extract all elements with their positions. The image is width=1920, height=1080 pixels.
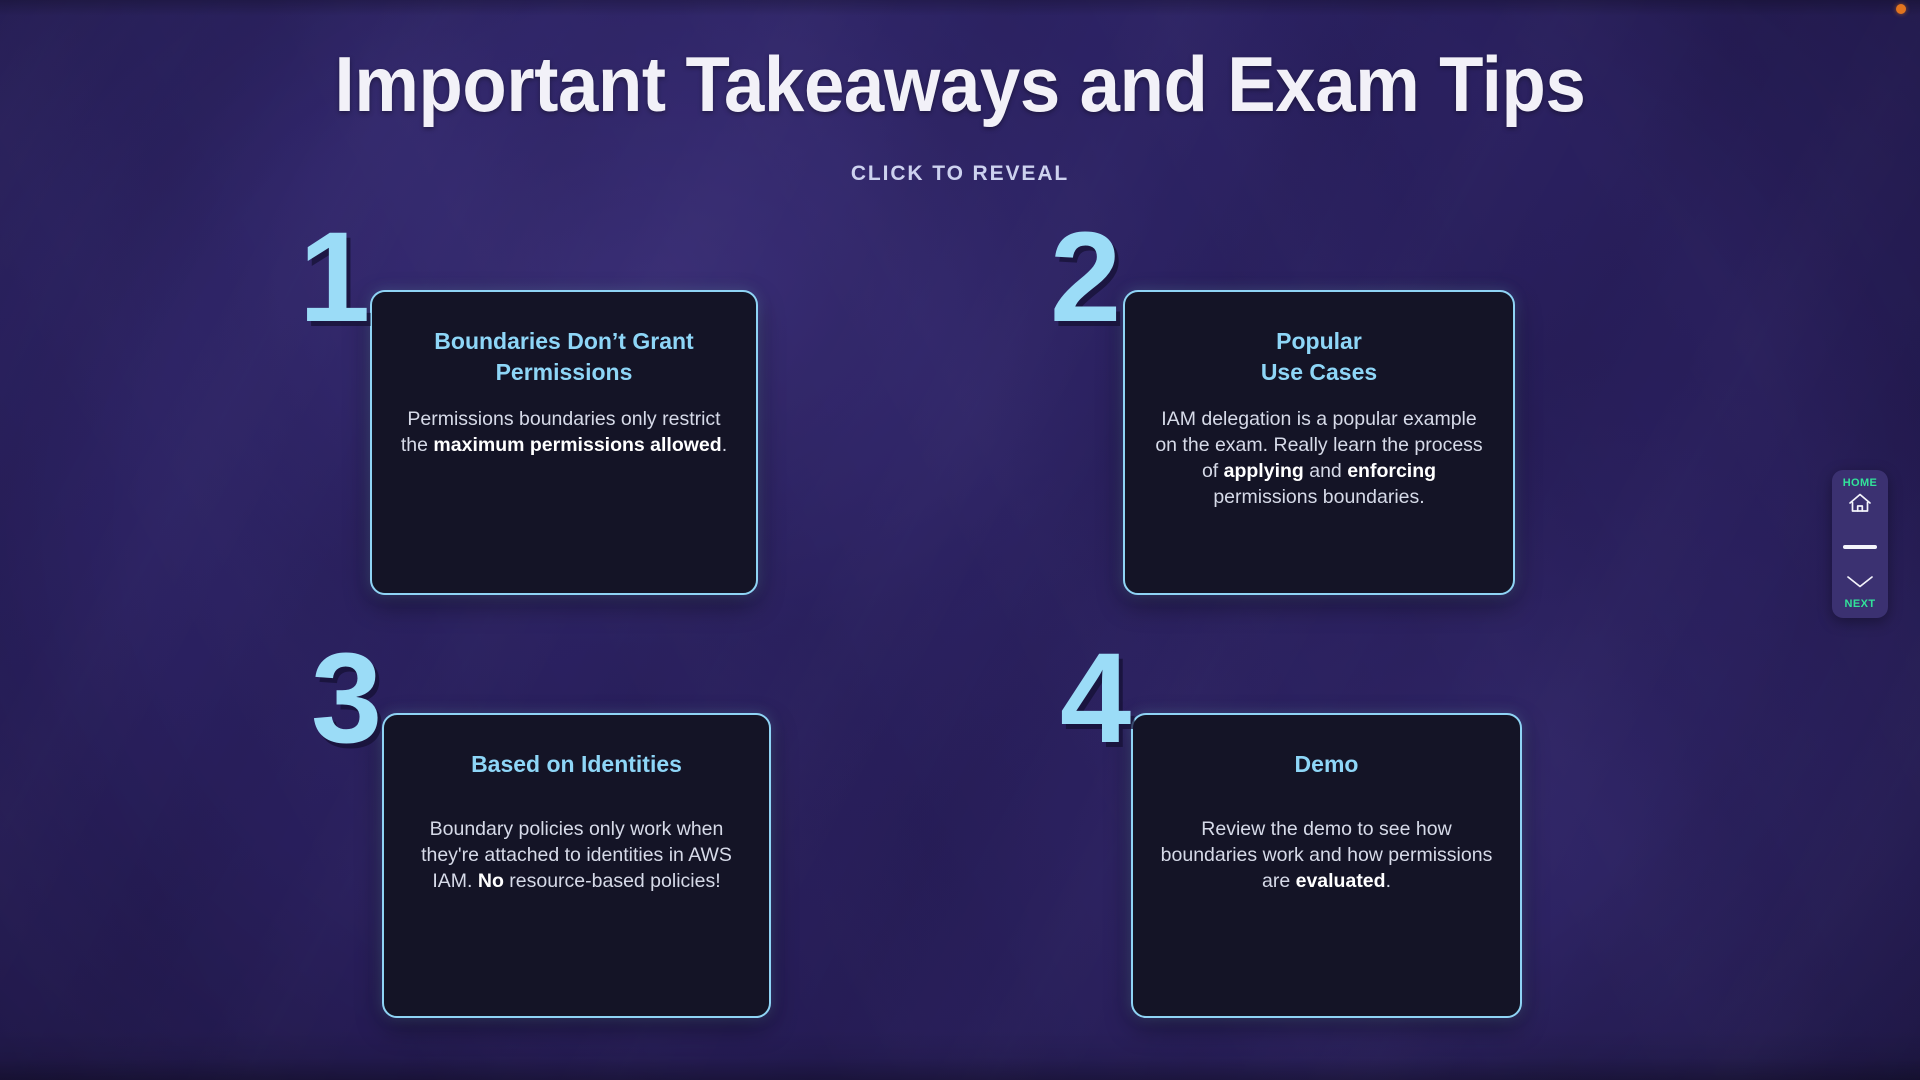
card-number-1: 1 bbox=[299, 222, 370, 334]
takeaway-card-2[interactable]: 2 Popular Use Cases IAM delegation is a … bbox=[1123, 290, 1515, 595]
card-number-4: 4 bbox=[1060, 643, 1131, 755]
home-button[interactable]: HOME bbox=[1843, 477, 1878, 519]
side-navigation-panel: HOME NEXT bbox=[1832, 470, 1888, 618]
subtitle-click-to-reveal: CLICK TO REVEAL bbox=[0, 162, 1920, 186]
card-number-3: 3 bbox=[311, 643, 382, 755]
recording-indicator-dot bbox=[1896, 4, 1906, 14]
card-number-2: 2 bbox=[1050, 222, 1121, 334]
card-slot-3: 3 Based on Identities Boundary policies … bbox=[382, 713, 771, 1018]
next-button-label: NEXT bbox=[1845, 598, 1876, 610]
card-body-3: Boundary policies only work when they're… bbox=[410, 816, 743, 894]
card-title-3: Based on Identities bbox=[471, 749, 682, 780]
card-title-1: Boundaries Don’t Grant Permissions bbox=[434, 326, 693, 388]
house-icon bbox=[1847, 492, 1873, 519]
next-button[interactable]: NEXT bbox=[1845, 574, 1876, 610]
chevron-down-icon bbox=[1845, 574, 1875, 595]
card-title-4: Demo bbox=[1295, 749, 1359, 780]
card-slot-1: 1 Boundaries Don’t Grant Permissions Per… bbox=[370, 290, 758, 595]
card-body-4: Review the demo to see how boundaries wo… bbox=[1159, 816, 1494, 894]
card-body-2: IAM delegation is a popular example on t… bbox=[1151, 406, 1487, 510]
divider-bar bbox=[1843, 545, 1877, 549]
card-slot-2: 2 Popular Use Cases IAM delegation is a … bbox=[1123, 290, 1515, 595]
home-button-label: HOME bbox=[1843, 477, 1878, 489]
takeaway-card-3[interactable]: 3 Based on Identities Boundary policies … bbox=[382, 713, 771, 1018]
takeaway-card-4[interactable]: 4 Demo Review the demo to see how bounda… bbox=[1131, 713, 1522, 1018]
card-title-2: Popular Use Cases bbox=[1261, 326, 1377, 388]
slide-stage: Important Takeaways and Exam Tips CLICK … bbox=[0, 0, 1920, 1080]
card-body-1: Permissions boundaries only restrict the… bbox=[398, 406, 730, 458]
page-title: Important Takeaways and Exam Tips bbox=[67, 42, 1853, 126]
card-slot-4: 4 Demo Review the demo to see how bounda… bbox=[1131, 713, 1522, 1018]
takeaway-card-1[interactable]: 1 Boundaries Don’t Grant Permissions Per… bbox=[370, 290, 758, 595]
